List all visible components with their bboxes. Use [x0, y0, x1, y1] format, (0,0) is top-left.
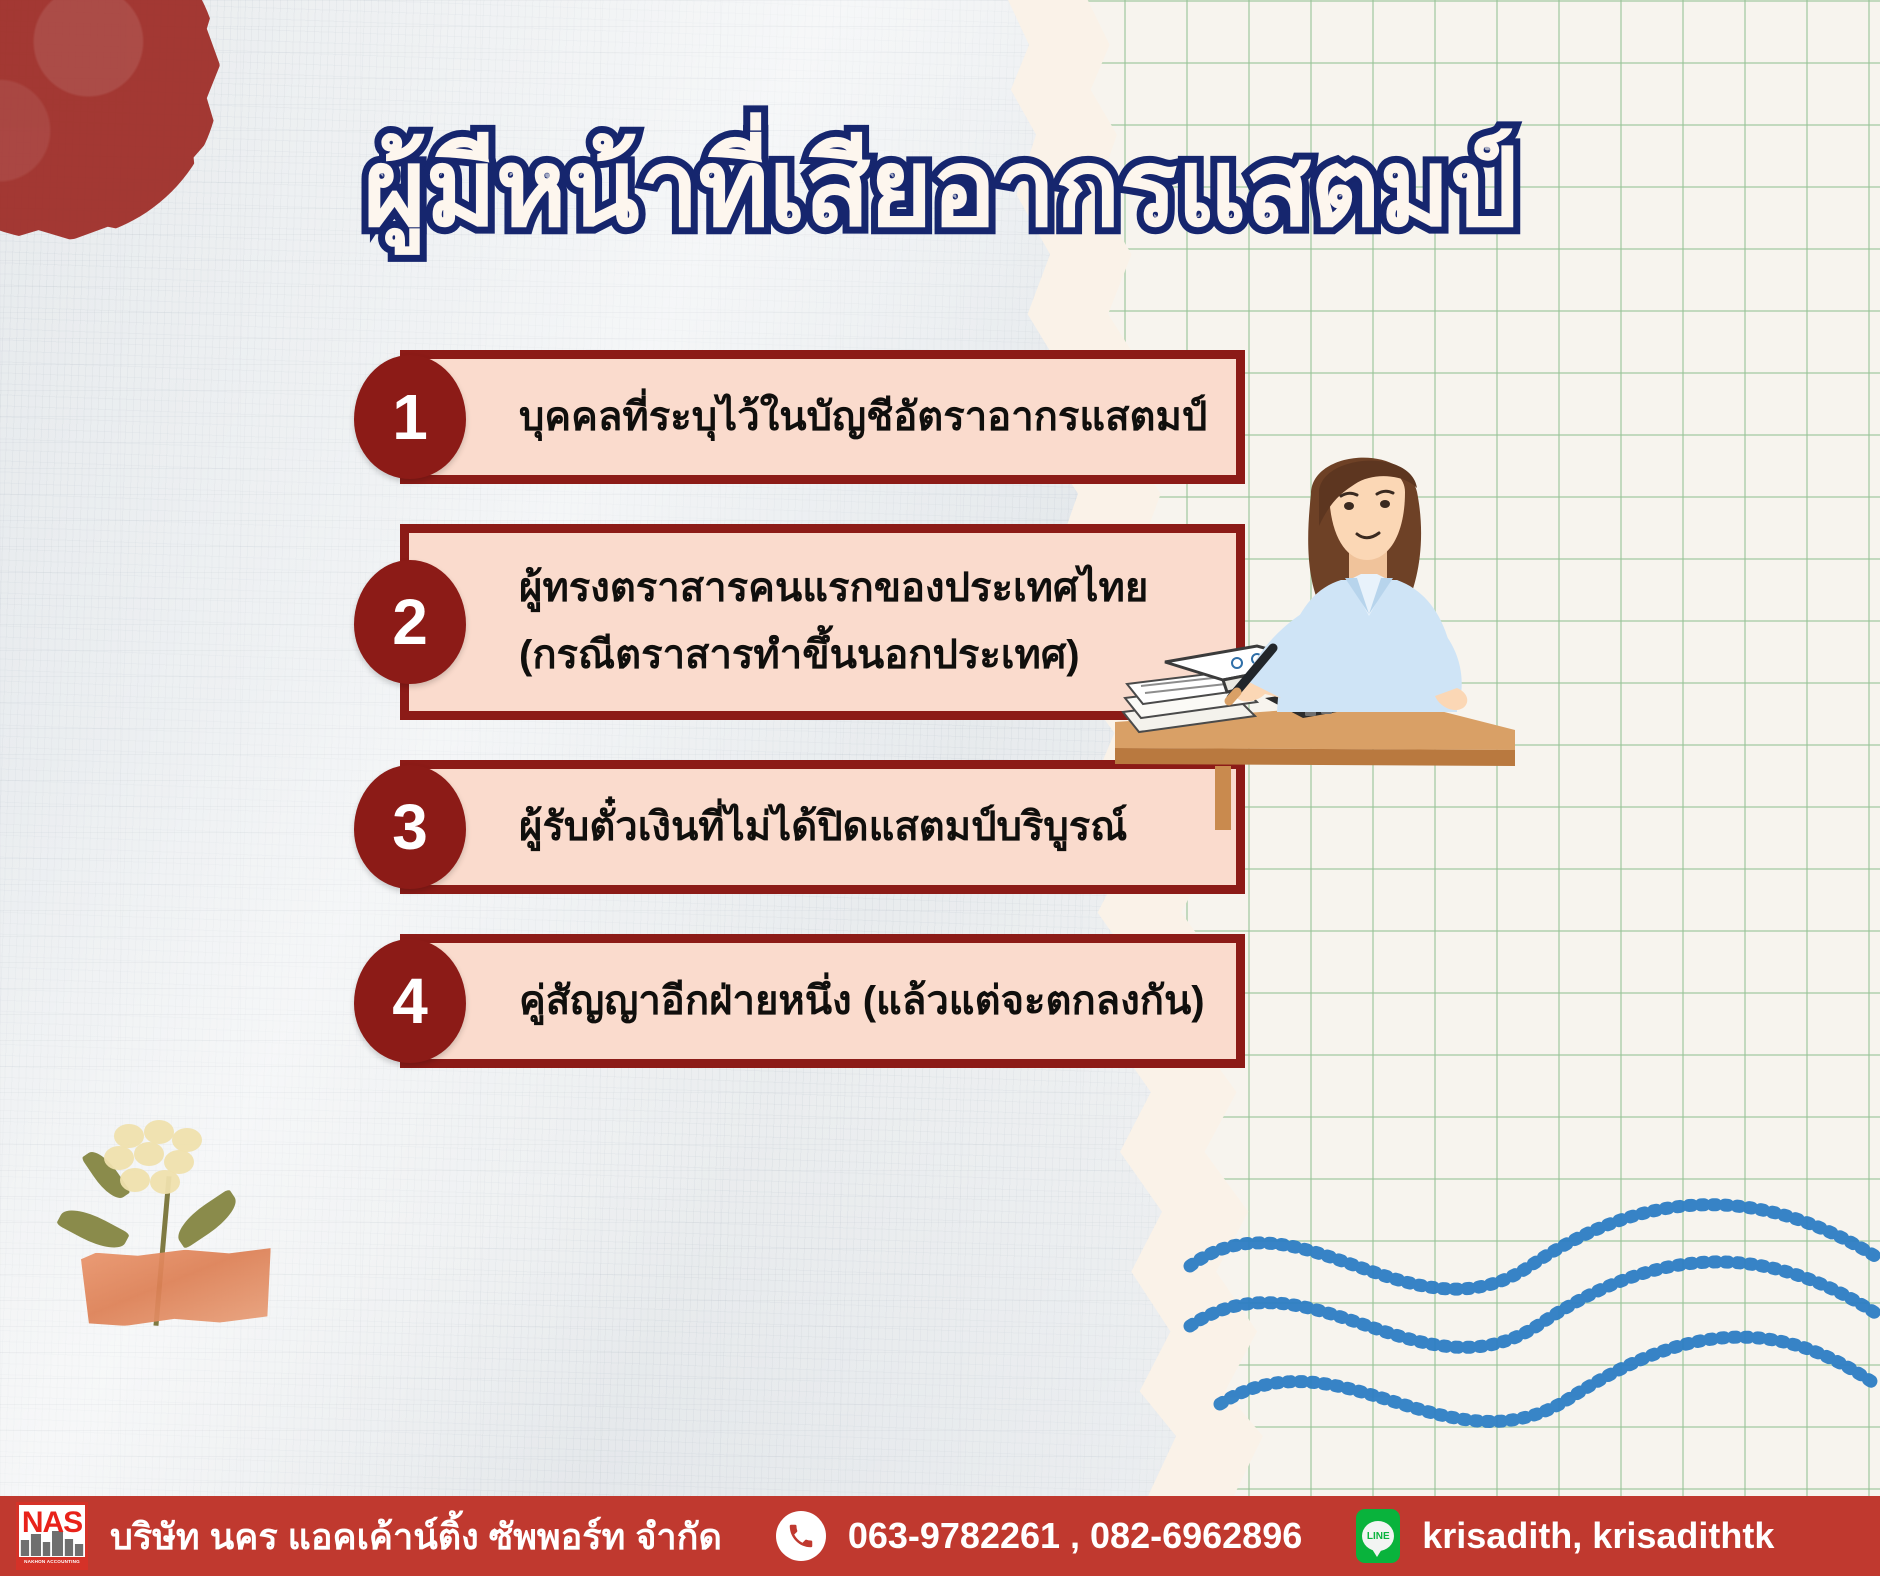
logo-subtitle: NAKHON ACCOUNTING SUPPORT CO., LTD: [19, 1557, 85, 1567]
accountant-illustration: [1105, 430, 1525, 850]
nas-logo: NAS NAKHON ACCOUNTING SUPPORT CO., LTD: [16, 1502, 88, 1570]
line-badge-label: LINE: [1362, 1521, 1394, 1551]
line-icon: LINE: [1356, 1509, 1400, 1563]
washi-tape: [81, 1247, 273, 1328]
flower-petal: [104, 1146, 134, 1170]
flower-petal: [134, 1142, 164, 1166]
desk-leg: [1215, 766, 1231, 830]
line-id[interactable]: krisadith, krisadithtk: [1422, 1515, 1774, 1557]
page-title: ผู้มีหน้าที่เสียอากรแสตมป์: [0, 128, 1880, 249]
logo-text: NAS: [22, 1508, 82, 1538]
item-number-badge: 1: [354, 355, 466, 479]
flower-leaf: [56, 1201, 130, 1257]
item-number-badge: 3: [354, 765, 466, 889]
phone-number[interactable]: 063-9782261 , 082-6962896: [848, 1515, 1302, 1557]
company-name: บริษัท นคร แอคเค้าน์ติ้ง ซัพพอร์ท จำกัด: [110, 1508, 722, 1565]
blue-brush-squiggles: [1180, 1146, 1880, 1476]
phone-icon: [776, 1511, 826, 1561]
flower-leaf: [171, 1189, 244, 1250]
accountant-figure: [1229, 458, 1467, 712]
pressed-flower-decoration: [52, 1120, 292, 1340]
desk-edge: [1115, 748, 1515, 766]
item-number-badge: 4: [354, 939, 466, 1063]
item-number-badge: 2: [354, 560, 466, 684]
poster-canvas: ผู้มีหน้าที่เสียอากรแสตมป์ 1 บุคคลที่ระบ…: [0, 0, 1880, 1576]
item-text-block: คู่สัญญาอีกฝ่ายหนึ่ง (แล้วแต่จะตกลงกัน): [519, 959, 1218, 1044]
footer-bar: NAS NAKHON ACCOUNTING SUPPORT CO., LTD บ…: [0, 1496, 1880, 1576]
flower-petal: [172, 1128, 202, 1152]
flower-petal: [144, 1120, 174, 1144]
list-item[interactable]: 4 คู่สัญญาอีกฝ่ายหนึ่ง (แล้วแต่จะตกลงกัน…: [400, 934, 1245, 1068]
flower-petal: [150, 1170, 180, 1194]
item-text-line: คู่สัญญาอีกฝ่ายหนึ่ง (แล้วแต่จะตกลงกัน): [519, 977, 1218, 1026]
flower-petal: [120, 1168, 150, 1192]
